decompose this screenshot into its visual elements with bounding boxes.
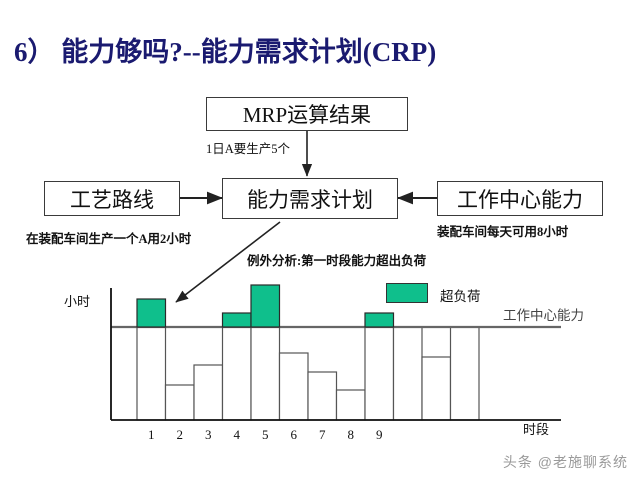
bar-5: [251, 327, 280, 420]
chart-plot: [0, 0, 640, 480]
bar-8: [337, 390, 366, 420]
bar-2: [166, 385, 195, 420]
watermark: 头条 @老施聊系统: [503, 452, 628, 472]
overload-cap-1: [137, 299, 166, 327]
chart-overload-caps: [137, 285, 394, 327]
tick-label: 3: [194, 427, 223, 443]
bar-4: [223, 327, 252, 420]
tick-label: 8: [337, 427, 366, 443]
chart-x-ticks: 1 2 3 4 5 6 7 8 9: [137, 427, 479, 447]
overload-cap-5: [251, 285, 280, 327]
bar-6: [280, 353, 309, 420]
bar-3: [194, 365, 223, 420]
tick-label: 2: [166, 427, 195, 443]
bar-9: [365, 327, 394, 420]
tick-label: 6: [280, 427, 309, 443]
bar-1: [137, 327, 166, 420]
tick-label: 9: [365, 427, 394, 443]
bar-11: [422, 357, 451, 420]
tick-label: 7: [308, 427, 337, 443]
chart-bars: [137, 327, 479, 420]
overload-cap-9: [365, 313, 394, 327]
capacity-chart: 小时 时段 工作中心能力 超负荷: [0, 0, 640, 480]
tick-label: 5: [251, 427, 280, 443]
tick-label: 1: [137, 427, 166, 443]
tick-label: 4: [223, 427, 252, 443]
bar-7: [308, 372, 337, 420]
overload-cap-4: [223, 313, 252, 327]
bar-12: [451, 327, 480, 420]
bar-10: [394, 327, 423, 420]
slide-canvas: 6） 能力够吗?--能力需求计划(CRP) MRP运算结果 1日A要生产5个 工…: [0, 0, 640, 480]
